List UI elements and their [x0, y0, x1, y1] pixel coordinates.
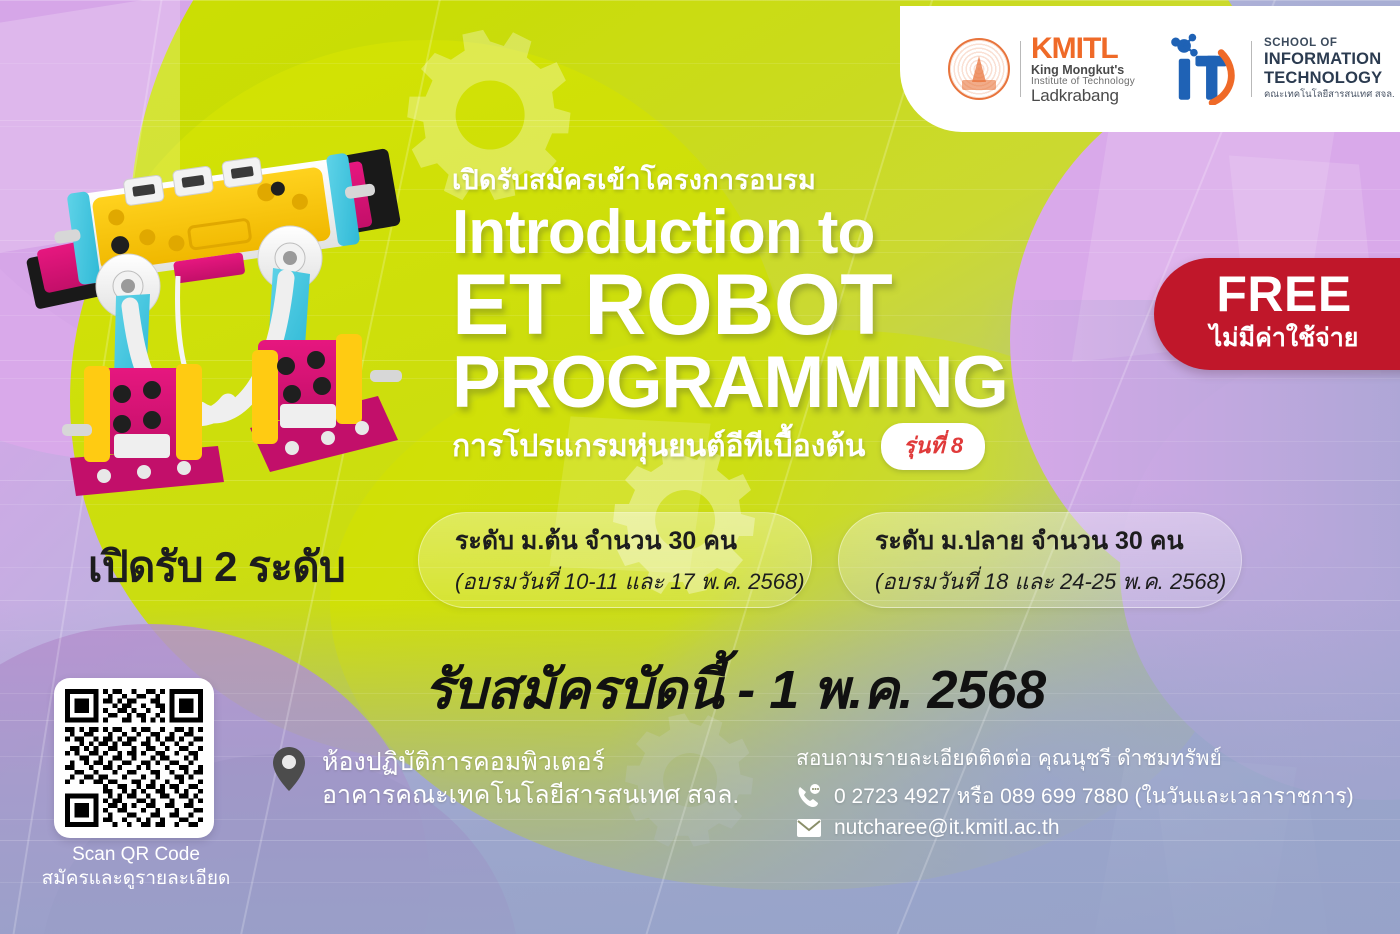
kmitl-logo: KMITL King Mongkut's Institute of Techno… — [948, 34, 1135, 105]
qr-code-box[interactable] — [54, 678, 214, 838]
qr-caption-en: Scan QR Code — [20, 843, 252, 867]
batch-badge: รุ่นที่ 8 — [881, 423, 985, 470]
headline-title-line3: PROGRAMMING — [452, 346, 1072, 419]
contact-email-row: nutcharee@it.kmitl.ac.th — [796, 816, 1354, 840]
level-pill-junior: ระดับ ม.ต้น จำนวน 30 คน (อบรมวันที่ 10-1… — [418, 512, 812, 608]
logo-bar: KMITL King Mongkut's Institute of Techno… — [900, 6, 1400, 132]
contact-phone-row: 0 2723 4927 หรือ 089 699 7880 (ในวันและเ… — [796, 780, 1354, 813]
logo-divider-1 — [1020, 41, 1021, 97]
location-line2: อาคารคณะเทคโนโลยีสารสนเทศ สจล. — [322, 779, 739, 812]
level-junior-dates: (อบรมวันที่ 10-11 และ 17 พ.ค. 2568) — [455, 564, 811, 599]
envelope-icon — [796, 818, 822, 838]
logo-divider-2 — [1251, 41, 1252, 97]
qr-caption-th: สมัครและดูรายละเอียด — [20, 867, 252, 891]
contact-phone[interactable]: 0 2723 4927 หรือ 089 699 7880 (ในวันและเ… — [834, 780, 1354, 813]
qr-code-icon[interactable] — [65, 689, 203, 827]
kmitl-line1: King Mongkut's — [1031, 64, 1135, 77]
phone-icon — [796, 784, 822, 810]
free-badge: FREE ไม่มีค่าใช้จ่าย — [1154, 258, 1400, 370]
location-line1: ห้องปฏิบัติการคอมพิวเตอร์ — [322, 746, 739, 779]
level-senior-title: ระดับ ม.ปลาย จำนวน 30 คน — [875, 521, 1241, 561]
qr-caption: Scan QR Code สมัครและดูรายละเอียด — [20, 843, 252, 891]
it-line3: TECHNOLOGY — [1264, 69, 1395, 88]
kmitl-acronym: KMITL — [1031, 34, 1135, 65]
contact-block: สอบถามรายละเอียดติดต่อ คุณนุชรี ดำชมทรัพ… — [796, 742, 1354, 840]
free-badge-th: ไม่มีค่าใช้จ่าย — [1210, 318, 1359, 358]
level-senior-dates: (อบรมวันที่ 18 และ 24-25 พ.ค. 2568) — [875, 564, 1241, 599]
map-pin-icon — [272, 746, 306, 792]
registration-deadline: รับสมัครบัดนี้ - 1 พ.ค. 2568 — [424, 646, 1046, 732]
poster-root: KMITL King Mongkut's Institute of Techno… — [0, 0, 1400, 934]
lego-robot-image — [18, 128, 418, 518]
headline-title-line1: Introduction to — [452, 203, 1072, 264]
it-line1: SCHOOL OF — [1264, 37, 1395, 50]
level-junior-title: ระดับ ม.ต้น จำนวน 30 คน — [455, 521, 811, 561]
it-logo-icon — [1161, 33, 1239, 105]
headline-title-line2: ET ROBOT — [452, 264, 1072, 347]
location-block: ห้องปฏิบัติการคอมพิวเตอร์ อาคารคณะเทคโนโ… — [272, 746, 739, 812]
it-thai-name: คณะเทคโนโลยีสารสนเทศ สจล. — [1264, 90, 1395, 101]
it-line2: INFORMATION — [1264, 50, 1395, 69]
contact-email[interactable]: nutcharee@it.kmitl.ac.th — [834, 816, 1060, 840]
headline-block: เปิดรับสมัครเข้าโครงการอบรม Introduction… — [452, 158, 1072, 470]
free-badge-en: FREE — [1216, 271, 1351, 317]
it-school-logo: SCHOOL OF INFORMATION TECHNOLOGY คณะเทคโ… — [1161, 33, 1395, 105]
kmitl-line3: Ladkrabang — [1031, 87, 1135, 104]
level-pill-senior: ระดับ ม.ปลาย จำนวน 30 คน (อบรมวันที่ 18 … — [838, 512, 1242, 608]
headline-kicker: เปิดรับสมัครเข้าโครงการอบรม — [452, 158, 1072, 201]
headline-subtitle-thai: การโปรแกรมหุ่นยนต์อีทีเบื้องต้น — [452, 423, 865, 470]
contact-heading: สอบถามรายละเอียดติดต่อ คุณนุชรี ดำชมทรัพ… — [796, 742, 1354, 775]
levels-label: เปิดรับ 2 ระดับ — [88, 534, 345, 600]
kmitl-seal-icon — [948, 38, 1010, 100]
